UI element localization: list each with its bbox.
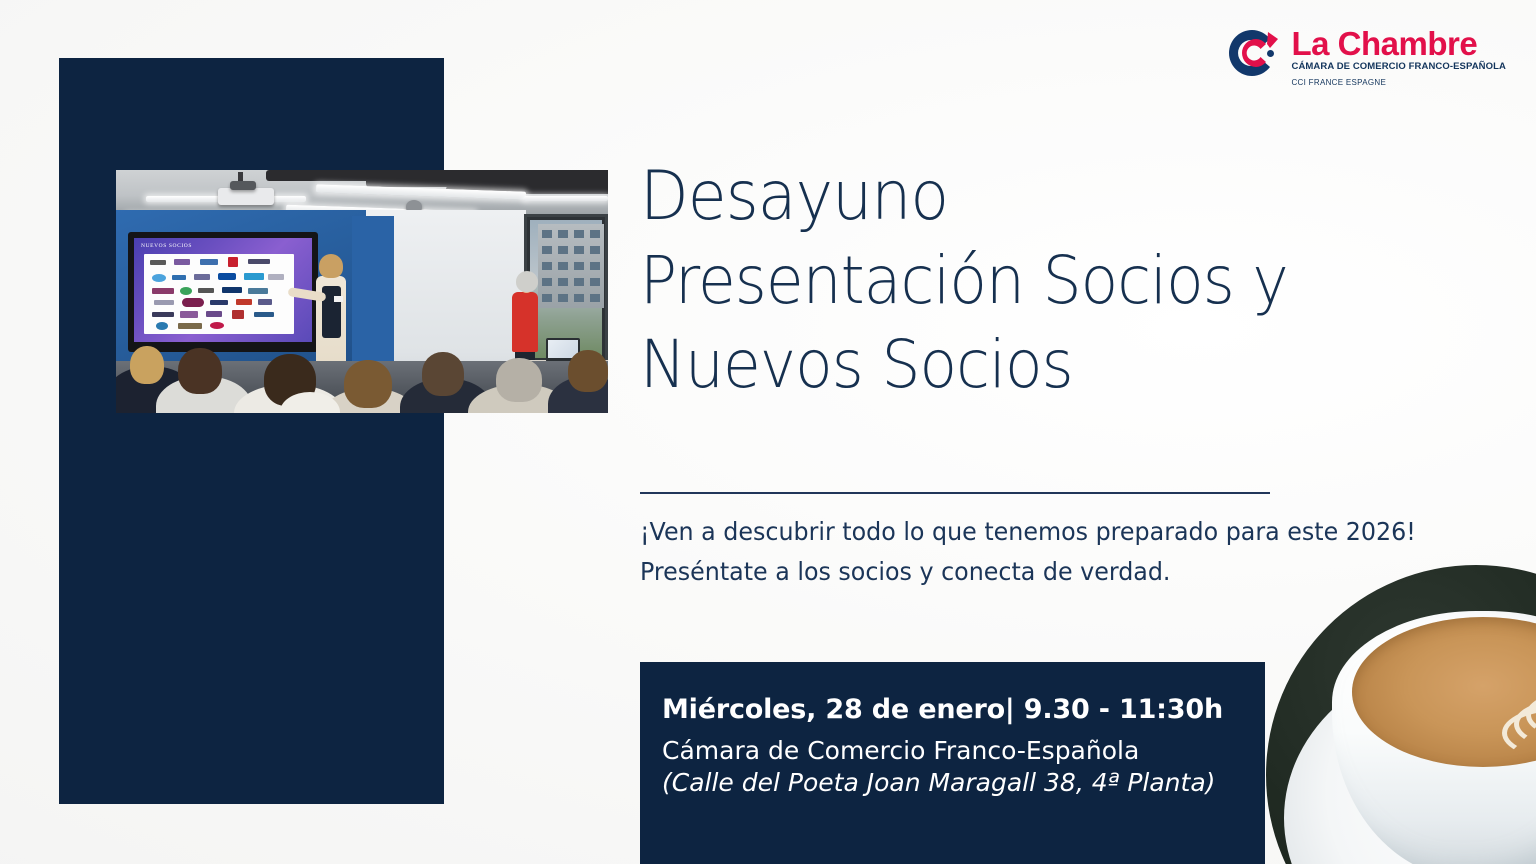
- photo-audience-head: [422, 352, 464, 396]
- event-photo-scene: NUEVOS SOCIOS: [116, 170, 608, 413]
- title-divider: [640, 492, 1270, 494]
- photo-projector: [230, 181, 256, 190]
- title-line-1: Desayuno: [640, 162, 1375, 231]
- photo-presenter-hair: [319, 254, 343, 278]
- photo-projector: [218, 188, 274, 205]
- poster-canvas: NUEVOS SOCIOS: [0, 0, 1536, 864]
- logo-subtitle-fr: CCI FRANCE ESPAGNE: [1291, 78, 1506, 87]
- coffee-cup-image: [1266, 565, 1536, 864]
- photo-audience-head: [130, 346, 164, 384]
- photo-logo-grid: [144, 254, 294, 334]
- title-line-2: Presentación Socios y: [640, 247, 1375, 314]
- photo-attendee-hair: [516, 271, 538, 292]
- cci-mark-icon: [1226, 26, 1282, 80]
- event-address: (Calle del Poeta Joan Maragall 38, 4ª Pl…: [662, 767, 1265, 799]
- lead-line-1: ¡Ven a descubrir todo lo que tenemos pre…: [640, 512, 1435, 552]
- event-details-box: Miércoles, 28 de enero| 9.30 - 11:30h Cá…: [640, 662, 1265, 864]
- event-title: Desayuno Presentación Socios y Nuevos So…: [640, 162, 1430, 414]
- photo-screen-title: NUEVOS SOCIOS: [141, 243, 192, 249]
- photo-audience-head: [178, 348, 222, 394]
- photo-audience-head: [568, 350, 608, 392]
- brand-logo: La Chambre CÁMARA DE COMERCIO FRANCO-ESP…: [1226, 26, 1506, 87]
- photo-presentation-screen: NUEVOS SOCIOS: [134, 238, 312, 342]
- event-date-time: Miércoles, 28 de enero| 9.30 - 11:30h: [662, 694, 1265, 725]
- title-line-3: Nuevos Socios: [640, 331, 1375, 398]
- photo-audience-head: [496, 358, 542, 402]
- event-photo: NUEVOS SOCIOS: [116, 170, 608, 413]
- photo-building: [538, 224, 604, 308]
- photo-presenter-badge: [334, 296, 343, 302]
- event-venue: Cámara de Comercio Franco-Española: [662, 735, 1265, 767]
- lead-paragraph: ¡Ven a descubrir todo lo que tenemos pre…: [640, 512, 1435, 591]
- photo-audience-head: [344, 360, 392, 408]
- photo-blue-wall-panel: [352, 216, 394, 376]
- photo-attendee-red: [512, 292, 538, 352]
- lead-line-2: Preséntate a los socios y conecta de ver…: [640, 552, 1435, 592]
- logo-subtitle-es: CÁMARA DE COMERCIO FRANCO-ESPAÑOLA: [1291, 61, 1506, 72]
- photo-light-strip: [524, 196, 608, 201]
- logo-wordmark: La Chambre: [1291, 28, 1506, 59]
- logo-text-block: La Chambre CÁMARA DE COMERCIO FRANCO-ESP…: [1291, 26, 1506, 87]
